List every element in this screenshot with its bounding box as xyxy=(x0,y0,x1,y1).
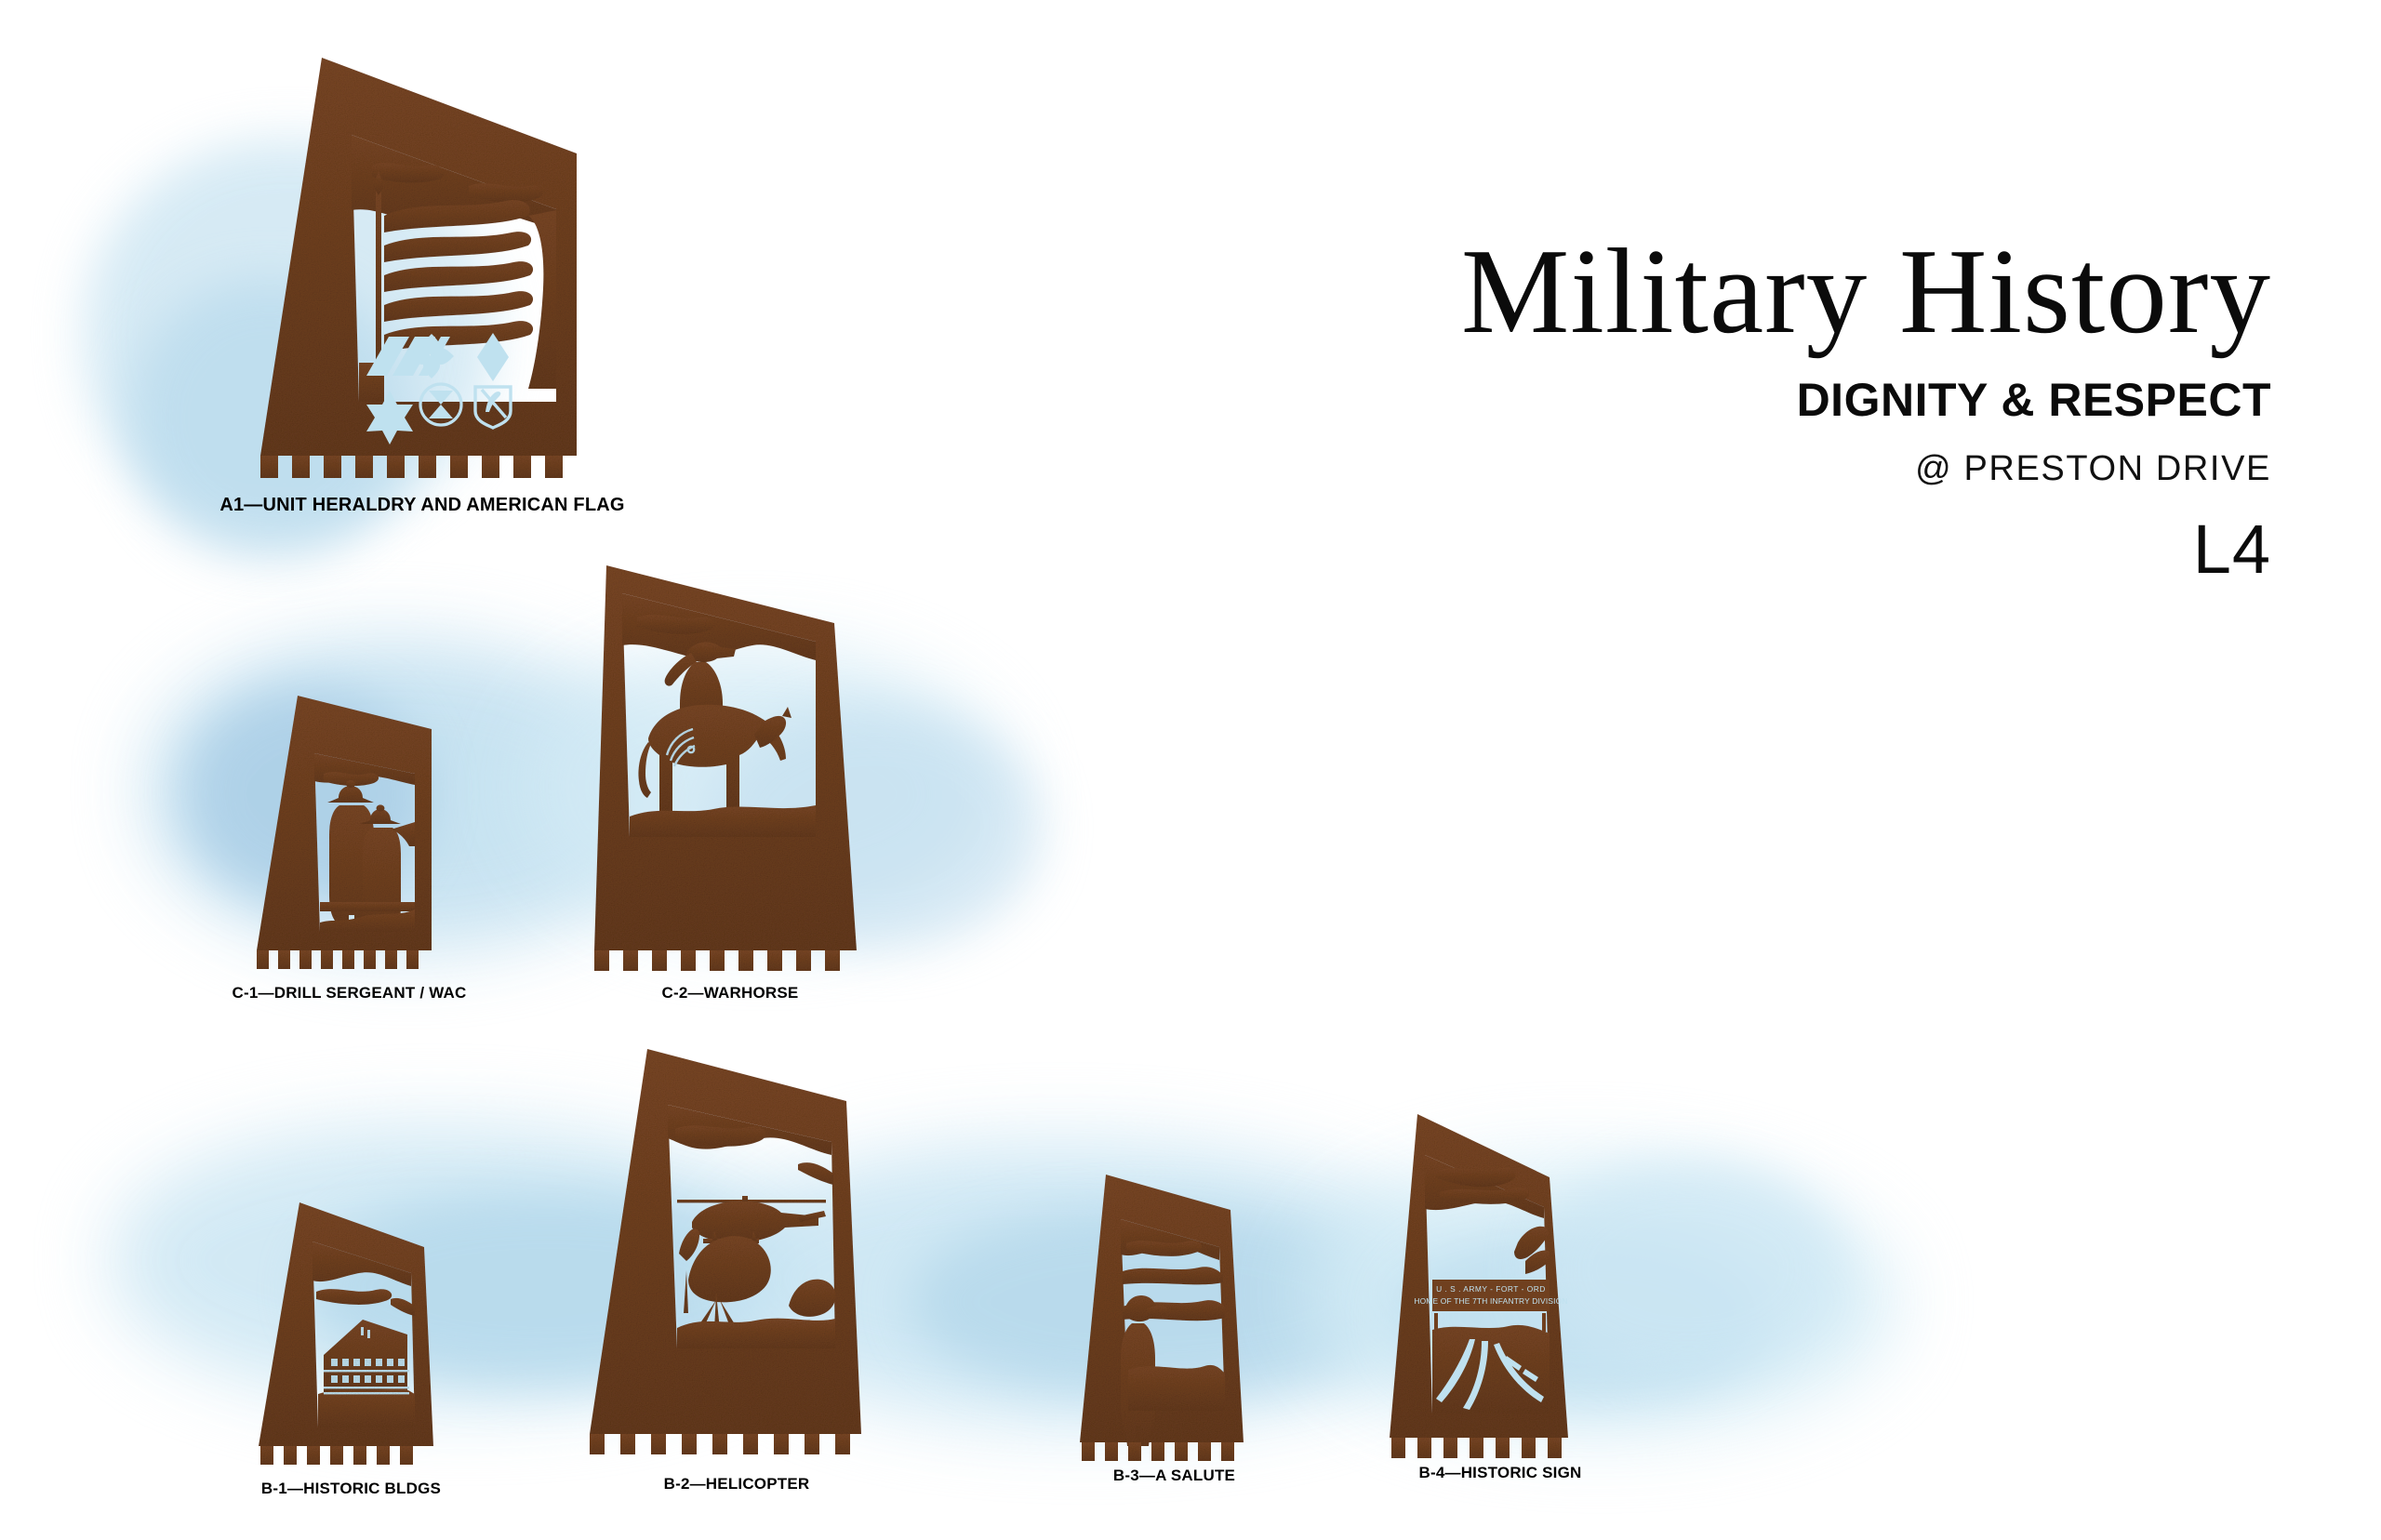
panel-B-1[interactable]: B-1—HISTORIC BLDGS xyxy=(251,1195,451,1474)
b3-comb-teeth xyxy=(1082,1442,1234,1461)
panel-A1[interactable]: A1—UNIT HERALDRY AND AMERICAN FLAG xyxy=(249,46,595,484)
sign-line-2: HOME OF THE 7TH INFANTRY DIVISION xyxy=(1414,1296,1567,1306)
panel-C-2[interactable]: C-2—WARHORSE xyxy=(581,556,879,976)
title-block: Military History DIGNITY & RESPECT @ PRE… xyxy=(1461,231,2271,589)
b1-comb-teeth xyxy=(260,1446,413,1465)
panel-label-C-2: C-2—WARHORSE xyxy=(662,984,799,1002)
page-subtitle: DIGNITY & RESPECT xyxy=(1461,373,2271,427)
b4-entrance-sign: U . S . ARMY - FORT - ORD HOME OF THE 7T… xyxy=(1414,1280,1567,1332)
b2-helicopter xyxy=(677,1196,826,1243)
b1-barracks xyxy=(318,1320,415,1427)
c1-comb-teeth xyxy=(257,950,419,969)
sign-line-1: U . S . ARMY - FORT - ORD xyxy=(1436,1284,1546,1294)
panel-label-A1: A1—UNIT HERALDRY AND AMERICAN FLAG xyxy=(219,495,624,516)
sheet-canvas: A1—UNIT HERALDRY AND AMERICAN FLAG xyxy=(0,0,2381,1540)
c2-comb-teeth xyxy=(594,950,840,971)
panel-label-B-1: B-1—HISTORIC BLDGS xyxy=(261,1480,441,1498)
panel-C-1[interactable]: C-1—DRILL SERGEANT / WAC xyxy=(249,688,449,976)
b4-comb-teeth xyxy=(1391,1438,1562,1458)
location-label: @ PRESTON DRIVE xyxy=(1461,449,2271,489)
panel-label-B-4: B-4—HISTORIC SIGN xyxy=(1419,1464,1582,1482)
sheet-code: L4 xyxy=(1461,510,2271,589)
panel-B-2[interactable]: B-2—HELICOPTER xyxy=(579,1040,895,1467)
panel-B-4[interactable]: U . S . ARMY - FORT - ORD HOME OF THE 7T… xyxy=(1384,1107,1616,1474)
a1-comb-teeth xyxy=(260,456,563,478)
panel-label-C-1: C-1—DRILL SERGEANT / WAC xyxy=(233,984,467,1002)
panel-B-3[interactable]: B-3—A SALUTE xyxy=(1074,1167,1274,1474)
b2-comb-teeth xyxy=(590,1434,850,1454)
b2-cypress-trees xyxy=(677,1228,835,1348)
page-title: Military History xyxy=(1461,231,2271,352)
panel-label-B-3: B-3—A SALUTE xyxy=(1113,1467,1235,1485)
panel-label-B-2: B-2—HELICOPTER xyxy=(664,1475,810,1494)
c2-horse-and-rider xyxy=(630,642,816,837)
